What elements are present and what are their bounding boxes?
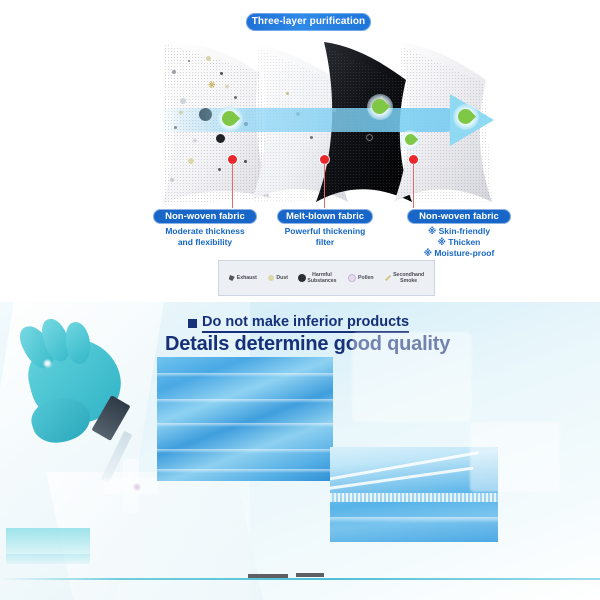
legend-item-secondhand-smoke: Secondhand Smoke — [385, 272, 424, 285]
layer-desc-outer: Moderate thickness and flexibility — [153, 226, 257, 248]
particle — [220, 72, 223, 75]
legend-label: Pollen — [358, 275, 374, 282]
pollen-icon — [348, 274, 356, 282]
legend-item-harmful-substances: Harmful Substances — [299, 272, 336, 285]
legend-label: Exhaust — [237, 275, 257, 282]
layer-label-inner-text: Non-woven fabric — [407, 209, 511, 224]
particle — [172, 70, 176, 74]
bokeh-dot — [44, 360, 51, 367]
dust-icon — [268, 275, 274, 281]
three-layer-section: Three-layer purification — [0, 0, 600, 302]
legend-item-pollen: Pollen — [348, 274, 374, 282]
footer-dash — [296, 573, 324, 577]
kicker: Do not make inferior products — [188, 314, 409, 333]
section-title-badge: Three-layer purification — [246, 13, 371, 31]
section-title-text: Three-layer purification — [246, 13, 371, 31]
harmful-substances-icon — [299, 275, 305, 281]
exhaust-icon — [229, 275, 235, 281]
layer-label-outer-text: Non-woven fabric — [153, 209, 257, 224]
layer-label-melt-blown-text: Melt-blown fabric — [277, 209, 373, 224]
footer-dash — [248, 574, 288, 578]
legend-label: Dust — [276, 275, 288, 282]
bokeh-dot — [134, 484, 140, 490]
secondhand-smoke-icon — [385, 275, 391, 281]
layer-label-melt-blown: Melt-blown fabric — [277, 209, 373, 224]
bg-panel — [352, 332, 472, 422]
infographic-page: Three-layer purification — [0, 0, 600, 600]
particle — [206, 56, 211, 61]
layer-label-outer: Non-woven fabric — [153, 209, 257, 224]
callout-leader-inner — [413, 163, 414, 208]
clean-airflow-arrow — [158, 94, 498, 146]
legend-label: Harmful Substances — [307, 272, 336, 285]
particle — [188, 158, 194, 164]
legend-item-dust: Dust — [268, 275, 288, 282]
legend-label: Secondhand Smoke — [393, 272, 424, 285]
legend-item-exhaust: Exhaust — [229, 275, 257, 282]
mask-pleats-photo — [157, 357, 333, 481]
airflow-stream — [158, 108, 458, 132]
callout-leader-outer — [232, 163, 233, 208]
smoke-particle-icon: ❋ — [208, 82, 216, 89]
footer-divider — [0, 578, 600, 580]
particle — [244, 160, 247, 163]
sample-tray — [6, 528, 90, 554]
particle-legend: Exhaust Dust Harmful Substances Pollen S… — [218, 260, 435, 296]
sample-tray-base — [6, 554, 90, 564]
layer-label-inner: Non-woven fabric — [407, 209, 511, 224]
pollen-particle-icon: ✳ — [224, 84, 230, 91]
particle — [170, 178, 174, 182]
kicker-text: Do not make inferior products — [202, 314, 409, 333]
callout-leader-melt-blown — [324, 163, 325, 208]
particle — [188, 60, 190, 62]
square-bullet-icon — [188, 319, 197, 328]
ultrasonic-weld-seam — [330, 493, 498, 502]
particle — [218, 168, 221, 171]
bg-panel — [470, 422, 560, 492]
layer-desc-melt-blown: Powerful thickening filter — [275, 226, 375, 248]
quality-section: Do not make inferior products Details de… — [0, 302, 600, 600]
layer-desc-inner: ※ Skin-friendly ※ Thicken ※ Moisture-pro… — [400, 226, 518, 259]
